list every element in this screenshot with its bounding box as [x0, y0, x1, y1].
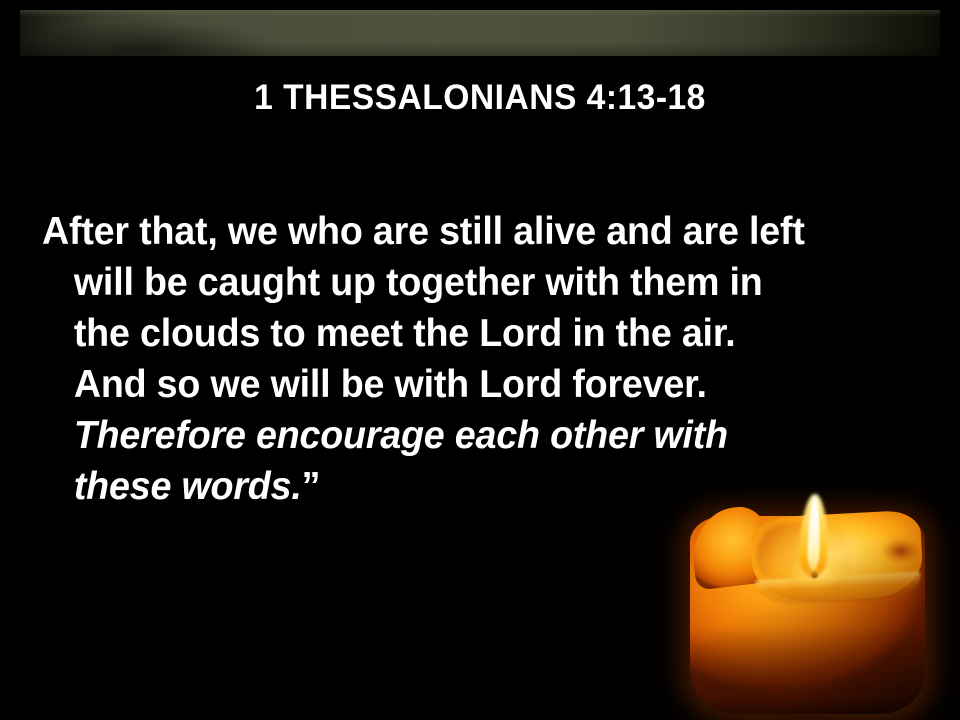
candle-shading — [690, 516, 925, 714]
lit-candle-photo — [660, 480, 960, 720]
candle-wick — [811, 571, 818, 578]
verse-line: the clouds to meet the Lord in the air. — [42, 308, 901, 359]
candle-glow — [660, 480, 960, 720]
candle-wax-rim — [755, 572, 921, 607]
top-decorative-band — [20, 10, 940, 56]
flame-light-spill — [780, 558, 852, 588]
verse-line: And so we will be with Lord forever. — [42, 359, 901, 410]
candle-wax-pool — [750, 510, 924, 605]
verse-line: will be caught up together with them in — [42, 257, 901, 308]
candle-wax-valley — [751, 520, 815, 588]
candle-wax-body — [690, 516, 925, 714]
candle-wax-horn — [688, 503, 777, 590]
page-title: 1 THESSALONIANS 4:13-18 — [19, 78, 941, 118]
candle-wax-notch — [882, 538, 920, 564]
verse-line: After that, we who are still alive and a… — [42, 206, 901, 257]
closing-quote-mark: ” — [302, 465, 321, 508]
verse-line-text: these words. — [74, 465, 302, 508]
verse-text-block: After that, we who are still alive and a… — [42, 206, 901, 512]
verse-line: Therefore encourage each other with — [42, 410, 901, 461]
verse-line: these words.” — [42, 461, 901, 512]
scripture-slide: 1 THESSALONIANS 4:13-18 After that, we w… — [0, 0, 960, 720]
